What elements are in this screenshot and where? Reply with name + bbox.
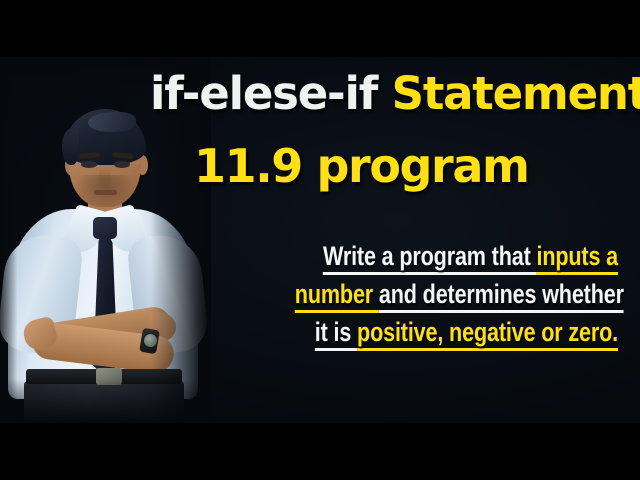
- presenter-tie-knot: [93, 217, 117, 239]
- question-line-2-yellow: number: [295, 279, 379, 313]
- presenter-trousers: [24, 381, 184, 423]
- question-line-3-white: it is: [315, 317, 357, 351]
- presenter-hair-side: [62, 129, 79, 165]
- presenter-eye-right: [114, 161, 130, 168]
- question-line-1-yellow: inputs a: [536, 241, 618, 275]
- question-text: Write a program that inputs a number and…: [295, 237, 618, 351]
- question-line-3: it is positive, negative or zero.: [295, 313, 618, 351]
- program-number: 11.9 program: [194, 143, 529, 189]
- presenter-mouth: [94, 190, 117, 195]
- video-thumbnail: if-elese-if Statement 11.9 program Write…: [0, 0, 640, 480]
- presenter-hair-part: [88, 112, 136, 132]
- presenter-belt-buckle: [96, 368, 122, 385]
- presenter-eye-left: [81, 161, 97, 168]
- headline: if-elese-if Statement: [150, 71, 630, 116]
- headline-keyword: Statement: [392, 67, 640, 120]
- question-line-2: number and determines whether: [295, 275, 618, 313]
- question-line-1-white: Write a program that: [323, 241, 536, 275]
- slide-canvas: if-elese-if Statement 11.9 program Write…: [0, 57, 640, 423]
- presenter-nose: [99, 167, 111, 188]
- headline-topic: if-elese-if: [150, 67, 392, 120]
- question-line-2-white: and determines whether: [379, 279, 624, 313]
- question-line-3-yellow: positive, negative or zero.: [357, 317, 618, 351]
- question-line-1: Write a program that inputs a: [295, 237, 618, 275]
